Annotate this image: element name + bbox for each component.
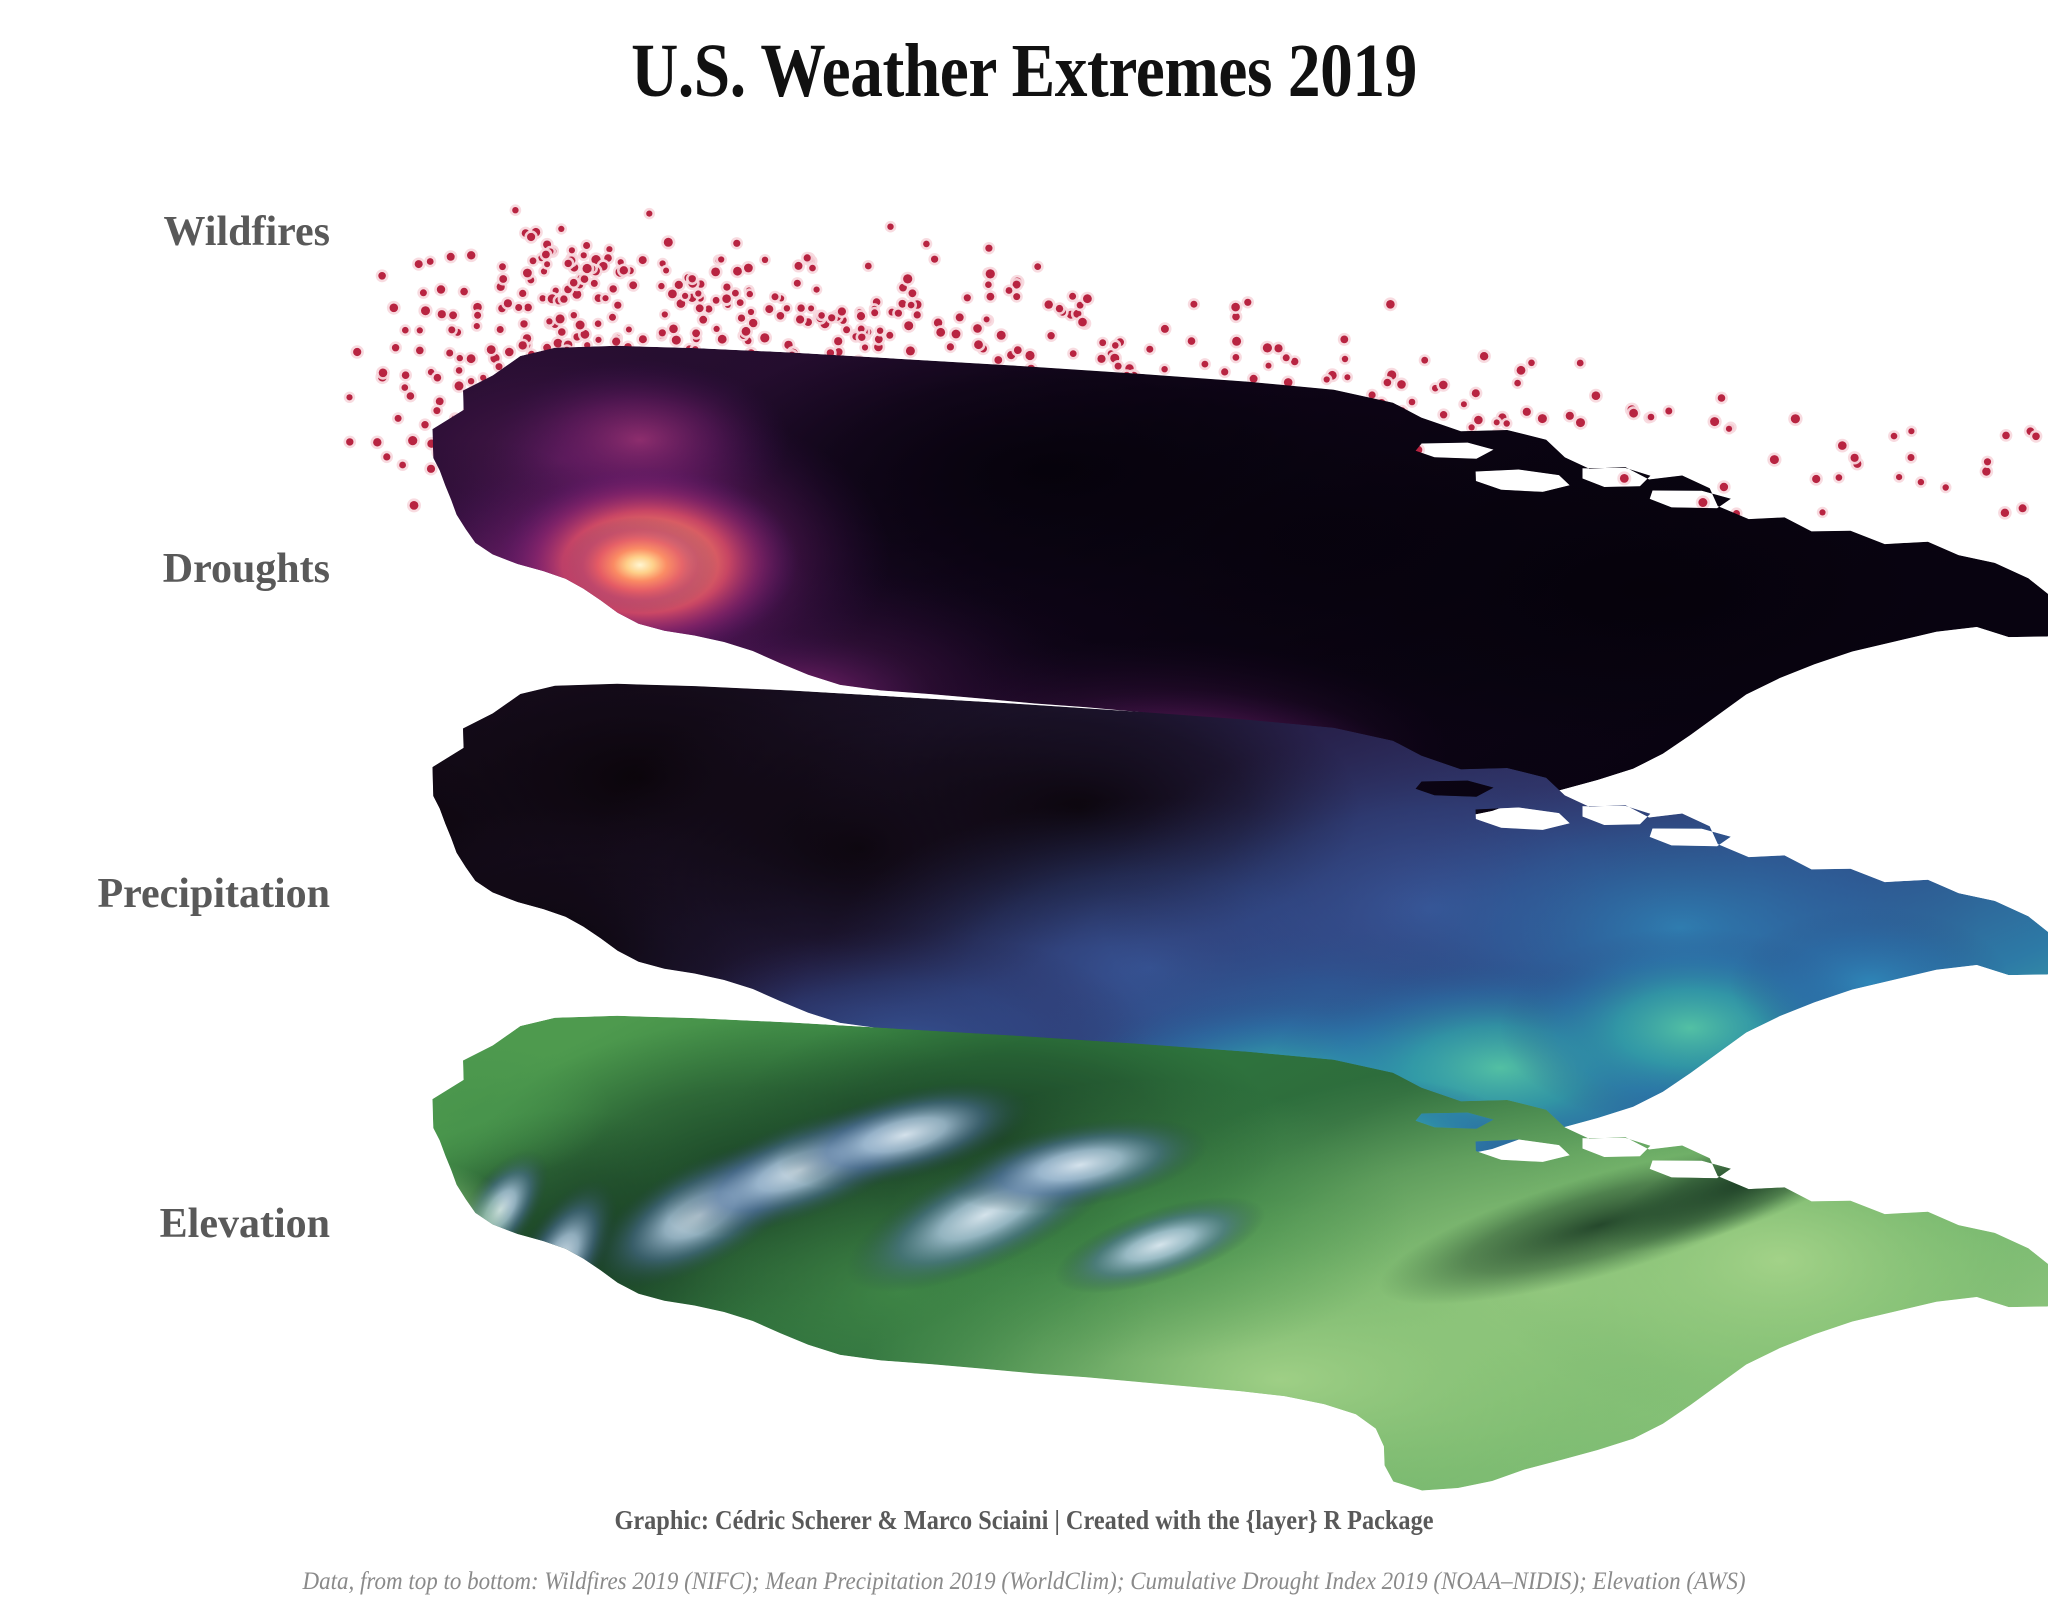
wildfire-point: [809, 265, 816, 272]
wildfire-point: [415, 260, 423, 268]
wildfire-point: [1190, 301, 1197, 308]
wildfire-point-halo: [1294, 441, 1305, 452]
wildfire-point-halo: [612, 332, 623, 343]
wildfire-point-halo: [565, 394, 579, 408]
wildfire-point-halo: [1288, 355, 1301, 368]
wildfire-point: [596, 351, 604, 359]
wildfire-point-halo: [674, 297, 688, 311]
wildfire-point: [743, 353, 752, 362]
wildfire-point: [953, 371, 961, 379]
wildfire-point: [519, 290, 526, 297]
wildfire-point: [467, 354, 476, 363]
wildfire-point: [499, 263, 506, 270]
wildfire-point-halo: [852, 459, 864, 471]
wildfire-point-halo: [779, 368, 790, 379]
wildfire-point-halo: [1067, 290, 1079, 302]
wildfire-point-halo: [850, 331, 862, 343]
wildfire-point-halo: [407, 498, 421, 512]
wildfire-point-halo: [592, 292, 605, 305]
layer-label-wildfires: Wildfires: [0, 208, 330, 256]
wildfire-point: [378, 373, 387, 382]
wildfire-point-halo: [1835, 439, 1849, 453]
wildfire-point: [835, 348, 843, 356]
wildfire-point-halo: [424, 462, 437, 475]
wildfire-point: [1469, 424, 1475, 430]
wildfire-point: [1399, 407, 1406, 414]
wildfire-point: [548, 247, 556, 255]
wildfire-point: [1081, 320, 1089, 328]
wildfire-point: [794, 280, 801, 287]
wildfire-point: [1493, 431, 1502, 440]
wildfire-point-halo: [1142, 440, 1155, 453]
wildfire-point-halo: [1708, 415, 1722, 429]
wildfire-point: [1115, 363, 1122, 370]
wildfire-point: [564, 341, 573, 350]
wildfire-point: [599, 423, 608, 432]
wildfire-point: [572, 383, 579, 390]
wildfire-point: [1161, 325, 1169, 333]
wildfire-point: [512, 207, 518, 213]
wildfire-point: [1718, 394, 1726, 402]
wildfire-point: [480, 375, 486, 381]
wildfire-point-halo: [807, 262, 819, 274]
wildfire-point-halo: [606, 311, 618, 323]
wildfire-point: [614, 302, 621, 309]
wildfire-point: [804, 318, 812, 326]
wildfire-point-halo: [568, 261, 581, 274]
wildfire-point-halo: [638, 431, 650, 443]
wildfire-point-halo: [988, 376, 1002, 390]
layer-label-elevation: Elevation: [0, 1200, 330, 1248]
wildfire-point-halo: [729, 287, 741, 299]
wildfire-point-halo: [1230, 334, 1244, 348]
wildfire-point: [705, 305, 712, 312]
wildfire-point-halo: [1051, 409, 1064, 422]
wildfire-point-halo: [982, 314, 994, 326]
wildfire-point-halo: [961, 389, 974, 402]
wildfire-point-halo: [1219, 366, 1231, 378]
wildfire-point: [572, 399, 579, 406]
wildfire-point-halo: [520, 266, 534, 280]
wildfire-point-halo: [1064, 308, 1077, 321]
wildfire-point-halo: [881, 370, 894, 383]
wildfire-point: [460, 288, 468, 296]
wildfire-point-halo: [535, 451, 548, 464]
wildfire-point-halo: [720, 294, 732, 306]
wildfire-point-halo: [708, 420, 721, 433]
wildfire-point: [797, 304, 804, 311]
wildfire-point: [1066, 420, 1075, 429]
wildfire-point: [492, 462, 499, 469]
wildfire-point-halo: [983, 267, 997, 281]
wildfire-point-halo: [982, 267, 994, 279]
wildfire-point-halo: [544, 316, 555, 327]
wildfire-point: [552, 400, 559, 407]
wildfire-point-halo: [536, 252, 548, 264]
wildfire-point: [373, 438, 381, 446]
wildfire-point-halo: [1201, 382, 1213, 394]
wildfire-point-halo: [1289, 389, 1303, 403]
wildfire-point: [448, 326, 455, 333]
wildfire-point-halo: [944, 341, 956, 353]
wildfire-point-halo: [1159, 363, 1171, 375]
wildfire-point: [1070, 398, 1078, 406]
wildfire-point: [1421, 357, 1428, 364]
wildfire-point: [1099, 339, 1106, 346]
wildfire-point: [1397, 380, 1406, 389]
wildfire-point: [659, 329, 666, 336]
wildfire-point: [433, 407, 440, 414]
wildfire-point: [732, 401, 739, 408]
wildfire-point-halo: [667, 322, 681, 336]
wildfire-point-halo: [895, 473, 909, 487]
wildfire-point: [689, 275, 696, 282]
wildfire-point: [967, 385, 975, 393]
wildfire-point: [1269, 437, 1275, 443]
wildfire-point: [660, 260, 666, 266]
wildfire-point-halo: [406, 433, 420, 447]
wildfire-point: [649, 390, 657, 398]
wildfire-point-halo: [527, 401, 541, 415]
wildfire-point: [565, 260, 572, 267]
wildfire-point-halo: [610, 335, 623, 348]
wildfire-point: [733, 267, 742, 276]
wildfire-point: [839, 317, 846, 324]
wildfire-point: [777, 312, 785, 320]
wildfire-point: [447, 465, 456, 474]
wildfire-point-halo: [1263, 360, 1274, 371]
wildfire-point: [663, 268, 669, 274]
wildfire-point: [815, 312, 823, 320]
wildfire-point-halo: [541, 341, 554, 354]
wildfire-point: [644, 371, 651, 378]
wildfire-point: [1498, 413, 1506, 421]
wildfire-point-halo: [854, 306, 865, 317]
wildfire-point-halo: [1574, 357, 1586, 369]
wildfire-point: [346, 394, 352, 400]
wildfire-point: [595, 337, 601, 343]
wildfire-point-halo: [1385, 439, 1397, 451]
wildfire-point-halo: [1437, 408, 1450, 421]
wildfire-point-halo: [712, 374, 726, 388]
wildfire-point: [664, 238, 673, 247]
wildfire-point-halo: [571, 331, 584, 344]
wildfire-point: [1067, 311, 1075, 319]
wildfire-point-halo: [903, 344, 917, 358]
wildfire-point-halo: [723, 472, 735, 484]
wildfire-point: [1812, 475, 1820, 483]
wildfire-point: [1918, 479, 1924, 485]
wildfire-point: [564, 286, 572, 294]
wildfire-point-halo: [1230, 351, 1242, 363]
wildfire-point-halo: [454, 352, 466, 364]
wildfire-point: [801, 369, 809, 377]
wildfire-point-halo: [690, 327, 703, 340]
wildfire-point-halo: [647, 438, 659, 450]
droughts-raster: [280, 310, 2048, 860]
wildfire-point: [540, 295, 546, 301]
wildfire-point-halo: [1148, 420, 1162, 434]
wildfire-point-halo: [545, 292, 559, 306]
wildfire-point-halo: [710, 294, 722, 306]
wildfire-point-halo: [1851, 457, 1864, 470]
wildfire-point-halo: [520, 332, 534, 346]
wildfire-point: [573, 290, 582, 299]
wildfire-point-halo: [517, 287, 529, 299]
wildfire-point-halo: [445, 463, 459, 477]
wildfire-point-halo: [1076, 315, 1090, 329]
wildfire-point-halo: [1998, 506, 2012, 520]
wildfire-point-halo: [1070, 460, 1082, 472]
wildfire-point: [747, 349, 756, 358]
wildfire-point-halo: [921, 238, 933, 250]
wildfire-point-halo: [693, 288, 704, 299]
wildfire-point: [467, 251, 475, 259]
wildfire-point: [1117, 404, 1123, 410]
wildfire-point-halo: [1810, 472, 1823, 485]
wildfire-point: [620, 409, 626, 415]
wildfire-point: [490, 354, 499, 363]
wildfire-point-halo: [716, 254, 727, 265]
wildfire-point: [576, 321, 585, 330]
wildfire-point-halo: [791, 419, 805, 433]
wildfire-point-halo: [869, 303, 880, 314]
wildfire-point: [446, 350, 453, 357]
wildfire-point: [1523, 408, 1531, 416]
wildfire-point-halo: [1003, 368, 1016, 381]
wildfire-point: [455, 381, 464, 390]
wildfire-point: [816, 314, 824, 322]
wildfire-point-halo: [462, 405, 476, 419]
wildfire-point: [487, 345, 496, 354]
wildfire-point: [665, 407, 672, 414]
wildfire-point: [1291, 413, 1297, 419]
wildfire-point-halo: [564, 352, 576, 364]
wildfire-point-halo: [485, 398, 497, 410]
wildfire-point: [487, 400, 493, 406]
wildfire-point: [774, 398, 780, 404]
wildfire-point: [964, 294, 971, 301]
wildfire-point: [752, 370, 761, 379]
wildfire-point: [788, 352, 795, 359]
wildfire-point: [616, 268, 625, 277]
wildfire-point: [1499, 448, 1507, 456]
wildfire-point: [906, 346, 915, 355]
wildfire-point-halo: [1645, 411, 1657, 423]
wildfire-point: [1284, 455, 1291, 462]
wildfire-point: [1627, 405, 1636, 414]
wildfire-point-halo: [1723, 423, 1734, 434]
wildfire-point: [379, 369, 388, 378]
wildfire-point: [997, 331, 1006, 340]
wildfire-point: [541, 398, 549, 406]
wildfire-point-halo: [795, 431, 807, 443]
wildfire-point: [798, 412, 805, 419]
wildfire-point: [718, 335, 727, 344]
wildfire-point: [1279, 387, 1285, 393]
wildfire-point-halo: [782, 360, 795, 373]
wildfire-point-halo: [1108, 351, 1122, 365]
wildfire-point: [569, 247, 575, 253]
wildfire-point-halo: [558, 421, 569, 432]
wildfire-point-halo: [525, 420, 539, 434]
wildfire-point: [2001, 509, 2009, 517]
wildfire-point-halo: [413, 344, 426, 357]
wildfire-point-halo: [568, 423, 579, 434]
wildfire-point: [717, 417, 726, 426]
wildfire-point-halo: [556, 293, 569, 306]
wildfire-point: [738, 315, 745, 322]
wildfire-point-halo: [472, 309, 484, 321]
wildfire-point-halo: [433, 395, 446, 408]
wildfire-point-halo: [1411, 443, 1425, 457]
wildfire-point-halo: [1078, 317, 1091, 330]
wildfire-point-halo: [835, 305, 848, 318]
wildfire-point-halo: [1004, 381, 1018, 395]
wildfire-point: [434, 448, 443, 457]
wildfire-point-halo: [452, 437, 464, 449]
wildfire-point-halo: [774, 309, 787, 322]
wildfire-point: [1592, 391, 1601, 400]
wildfire-point: [914, 311, 921, 318]
wildfire-point-halo: [510, 204, 522, 216]
wildfire-point-halo: [802, 316, 815, 329]
wildfire-point-halo: [1501, 450, 1515, 464]
wildfire-point: [873, 298, 881, 306]
wildfire-point: [614, 335, 620, 341]
wildfire-point-halo: [746, 316, 760, 330]
wildfire-point: [1369, 391, 1376, 398]
wildfire-point-halo: [973, 430, 987, 444]
wildfire-point: [1528, 360, 1535, 367]
wildfire-point: [558, 295, 566, 303]
wildfire-point: [500, 387, 507, 394]
wildfire-point-halo: [618, 449, 631, 462]
wildfire-point: [697, 280, 704, 287]
wildfire-point-halo: [513, 301, 525, 313]
wildfire-point-halo: [612, 299, 624, 311]
wildfire-point: [510, 372, 517, 379]
wildfire-point: [749, 319, 757, 327]
wildfire-point: [1494, 419, 1500, 425]
wildfire-point-halo: [555, 326, 568, 339]
wildfire-point: [591, 267, 600, 276]
wildfire-point: [1007, 351, 1015, 359]
wildfire-point: [1342, 356, 1348, 362]
wildfire-point: [1838, 441, 1847, 450]
wildfire-point-halo: [1175, 410, 1187, 422]
wildfire-point-halo: [1381, 376, 1394, 389]
wildfire-point-halo: [582, 340, 593, 351]
wildfire-point: [1083, 294, 1092, 303]
wildfire-point: [523, 341, 531, 349]
wildfire-point-halo: [811, 448, 824, 461]
wildfire-point-halo: [478, 372, 489, 383]
wildfire-point-halo: [656, 327, 668, 339]
wildfire-point: [1791, 414, 1800, 423]
wildfire-point-halo: [905, 299, 917, 311]
wildfire-point: [808, 258, 815, 265]
wildfire-point: [609, 314, 616, 321]
wildfire-point: [638, 355, 645, 362]
wildfire-point-halo: [419, 418, 432, 431]
wildfire-point-halo: [1276, 384, 1287, 395]
wildfire-point-halo: [952, 364, 966, 378]
wildfire-point: [669, 325, 678, 334]
wildfire-point: [589, 265, 596, 272]
wildfire-point-halo: [656, 280, 668, 292]
wildfire-point-halo: [2024, 425, 2037, 438]
wildfire-point: [1322, 418, 1328, 424]
wildfire-point: [895, 310, 902, 317]
wildfire-point: [1480, 352, 1488, 360]
wildfire-point: [473, 401, 480, 408]
wildfire-point: [606, 395, 612, 401]
wildfire-point: [541, 268, 547, 274]
wildfire-point: [560, 295, 567, 302]
wildfire-point-halo: [1319, 415, 1330, 426]
wildfire-point: [427, 258, 434, 265]
wildfire-point: [565, 377, 572, 384]
wildfire-point: [973, 324, 982, 333]
wildfire-point: [545, 408, 552, 415]
wildfire-point-halo: [884, 329, 896, 341]
wildfire-point-halo: [600, 400, 612, 412]
wildfire-point: [609, 365, 617, 373]
wildfire-point: [449, 311, 457, 319]
wildfire-point: [599, 262, 608, 271]
wildfire-point-halo: [552, 376, 565, 389]
wildfire-point: [727, 431, 735, 439]
wildfire-point-halo: [563, 375, 575, 387]
wildfire-point-halo: [855, 323, 867, 335]
wildfire-point-halo: [565, 254, 578, 267]
wildfire-point: [1053, 386, 1060, 393]
wildfire-point: [662, 311, 668, 317]
wildfire-point-halo: [1266, 435, 1277, 446]
wildfire-point: [567, 397, 576, 406]
wildfire-point: [1891, 433, 1898, 440]
wildfire-point: [865, 329, 872, 336]
wildfire-point: [787, 439, 795, 447]
wildfire-point: [528, 423, 537, 432]
wildfire-point-halo: [802, 252, 816, 266]
wildfire-point-halo: [747, 423, 761, 437]
wildfire-point: [620, 266, 628, 274]
wildfire-point: [908, 302, 915, 309]
wildfire-point: [504, 299, 512, 307]
wildfire-point-halo: [425, 366, 437, 378]
wildfire-point: [1409, 399, 1416, 406]
wildfire-point: [618, 259, 624, 265]
wildfire-point: [672, 336, 681, 345]
wildfire-point-halo: [473, 426, 486, 439]
wildfire-point-halo: [1158, 322, 1171, 335]
wildfire-point: [1819, 509, 1825, 515]
wildfire-point: [519, 341, 527, 349]
wildfire-point-halo: [1067, 348, 1079, 360]
wildfire-point: [573, 333, 580, 340]
wildfire-point: [399, 462, 406, 469]
wildfire-point-halo: [544, 317, 556, 329]
wildfire-point: [1984, 458, 1991, 465]
wildfire-point-halo: [837, 314, 850, 327]
wildfire-point: [555, 385, 561, 391]
wildfire-point: [512, 395, 521, 404]
wildfire-point-halo: [602, 252, 615, 265]
wildfire-point: [555, 297, 562, 304]
wildfire-point-halo: [1105, 348, 1117, 360]
